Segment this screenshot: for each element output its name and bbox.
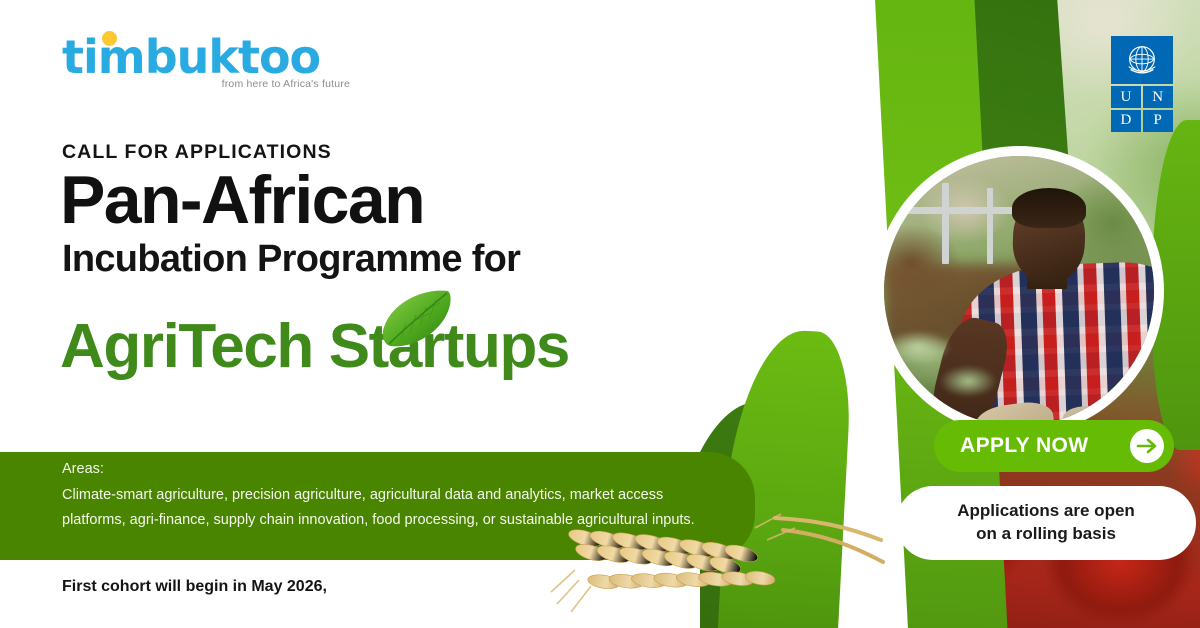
wheat-stalks-image [545, 500, 885, 628]
apply-now-label: APPLY NOW [960, 434, 1128, 458]
headline-line-1: Pan-African [60, 166, 424, 234]
headline-line-3: AgriTech Startups [60, 316, 569, 378]
farmer-portrait-photo [884, 156, 1154, 426]
logo-tagline: from here to Africa's future [222, 78, 350, 90]
rolling-basis-card: Applications are openon a rolling basis [896, 486, 1196, 560]
un-globe-emblem-icon [1111, 36, 1173, 84]
poster-canvas: U N D P timbuktoo from here to Africa's … [0, 0, 1200, 628]
headline-line-2: Incubation Programme for [62, 240, 520, 278]
cohort-start-text: First cohort will begin in May 2026, [62, 578, 327, 596]
undp-letter-grid: U N D P [1111, 86, 1173, 132]
undp-letter-n: N [1143, 86, 1173, 108]
portrait-foliage [884, 307, 1035, 426]
areas-label: Areas: [62, 461, 104, 477]
undp-letter-p: P [1143, 110, 1173, 132]
kicker-text: CALL FOR APPLICATIONS [62, 141, 332, 164]
green-leaf-icon [378, 287, 456, 349]
circle-arrow-right-icon [1128, 427, 1166, 465]
undp-logo: U N D P [1111, 36, 1173, 132]
rolling-line-2: on a rolling basis [976, 524, 1116, 543]
rolling-line-1: Applications are open [957, 501, 1135, 520]
logo-dot-icon [102, 31, 117, 46]
undp-letter-u: U [1111, 86, 1141, 108]
timbuktoo-logo: timbuktoo from here to Africa's future [62, 34, 352, 96]
undp-letter-d: D [1111, 110, 1141, 132]
portrait-hair [1012, 188, 1086, 228]
apply-now-button[interactable]: APPLY NOW [934, 420, 1174, 472]
rolling-basis-text: Applications are openon a rolling basis [957, 500, 1135, 546]
